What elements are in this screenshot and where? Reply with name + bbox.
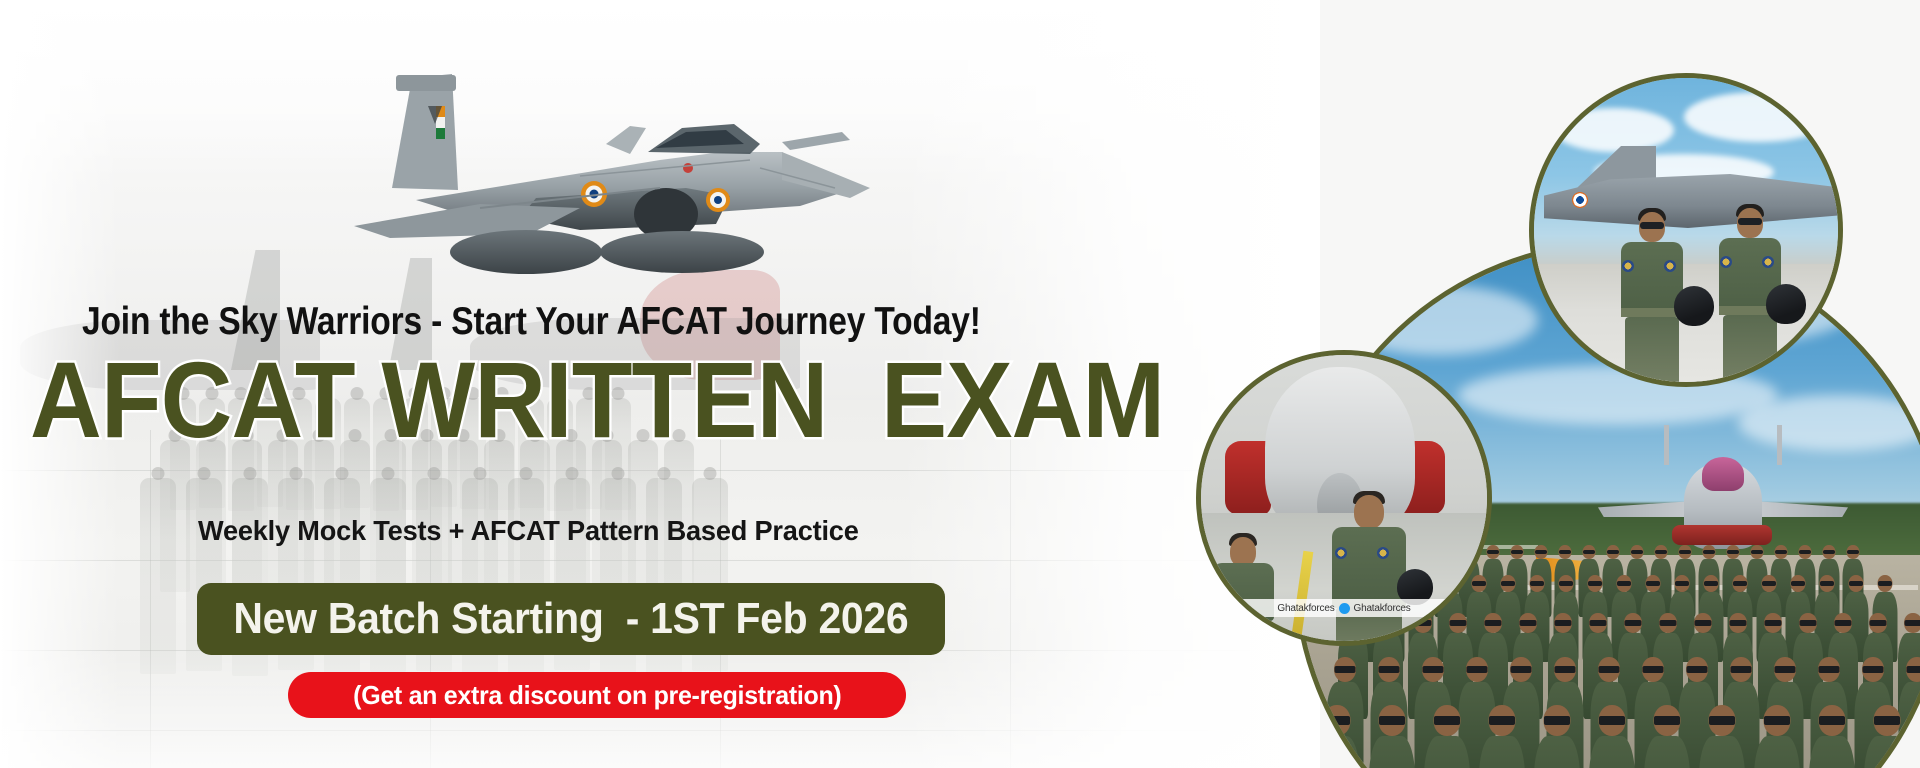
officer-figure — [1207, 533, 1279, 646]
batch-start-badge: New Batch Starting - 1ST Feb 2026 — [197, 583, 945, 655]
tejas-jet-on-runway — [1598, 443, 1848, 551]
photo-watermark: Ghatakforces Ghatakforces — [1201, 599, 1487, 617]
flight-helmet — [1766, 284, 1806, 324]
page-title: AFCAT WRITTEN EXAM — [30, 346, 1164, 454]
batch-start-label: New Batch Starting - 1ST Feb 2026 — [234, 594, 909, 644]
officers-photo-circle: Ghatakforces Ghatakforces — [1196, 350, 1492, 646]
flight-helmet — [1674, 286, 1714, 326]
twitter-bird-icon — [1339, 603, 1350, 614]
pilots-photo-circle — [1529, 73, 1843, 387]
tagline: Join the Sky Warriors - Start Your AFCAT… — [82, 300, 981, 344]
watermark-left-text: Ghatakforces — [1277, 603, 1334, 614]
discount-label: (Get an extra discount on pre-registrati… — [353, 680, 841, 711]
rafale-jet-image — [330, 48, 890, 288]
course-features-text: Weekly Mock Tests + AFCAT Pattern Based … — [198, 515, 859, 547]
discount-badge[interactable]: (Get an extra discount on pre-registrati… — [288, 672, 906, 718]
afcat-promo-banner: Join the Sky Warriors - Start Your AFCAT… — [0, 0, 1920, 768]
crowd-row — [1314, 705, 1920, 768]
officer-figure — [1321, 491, 1417, 646]
watermark-right-text: Ghatakforces — [1354, 603, 1411, 614]
